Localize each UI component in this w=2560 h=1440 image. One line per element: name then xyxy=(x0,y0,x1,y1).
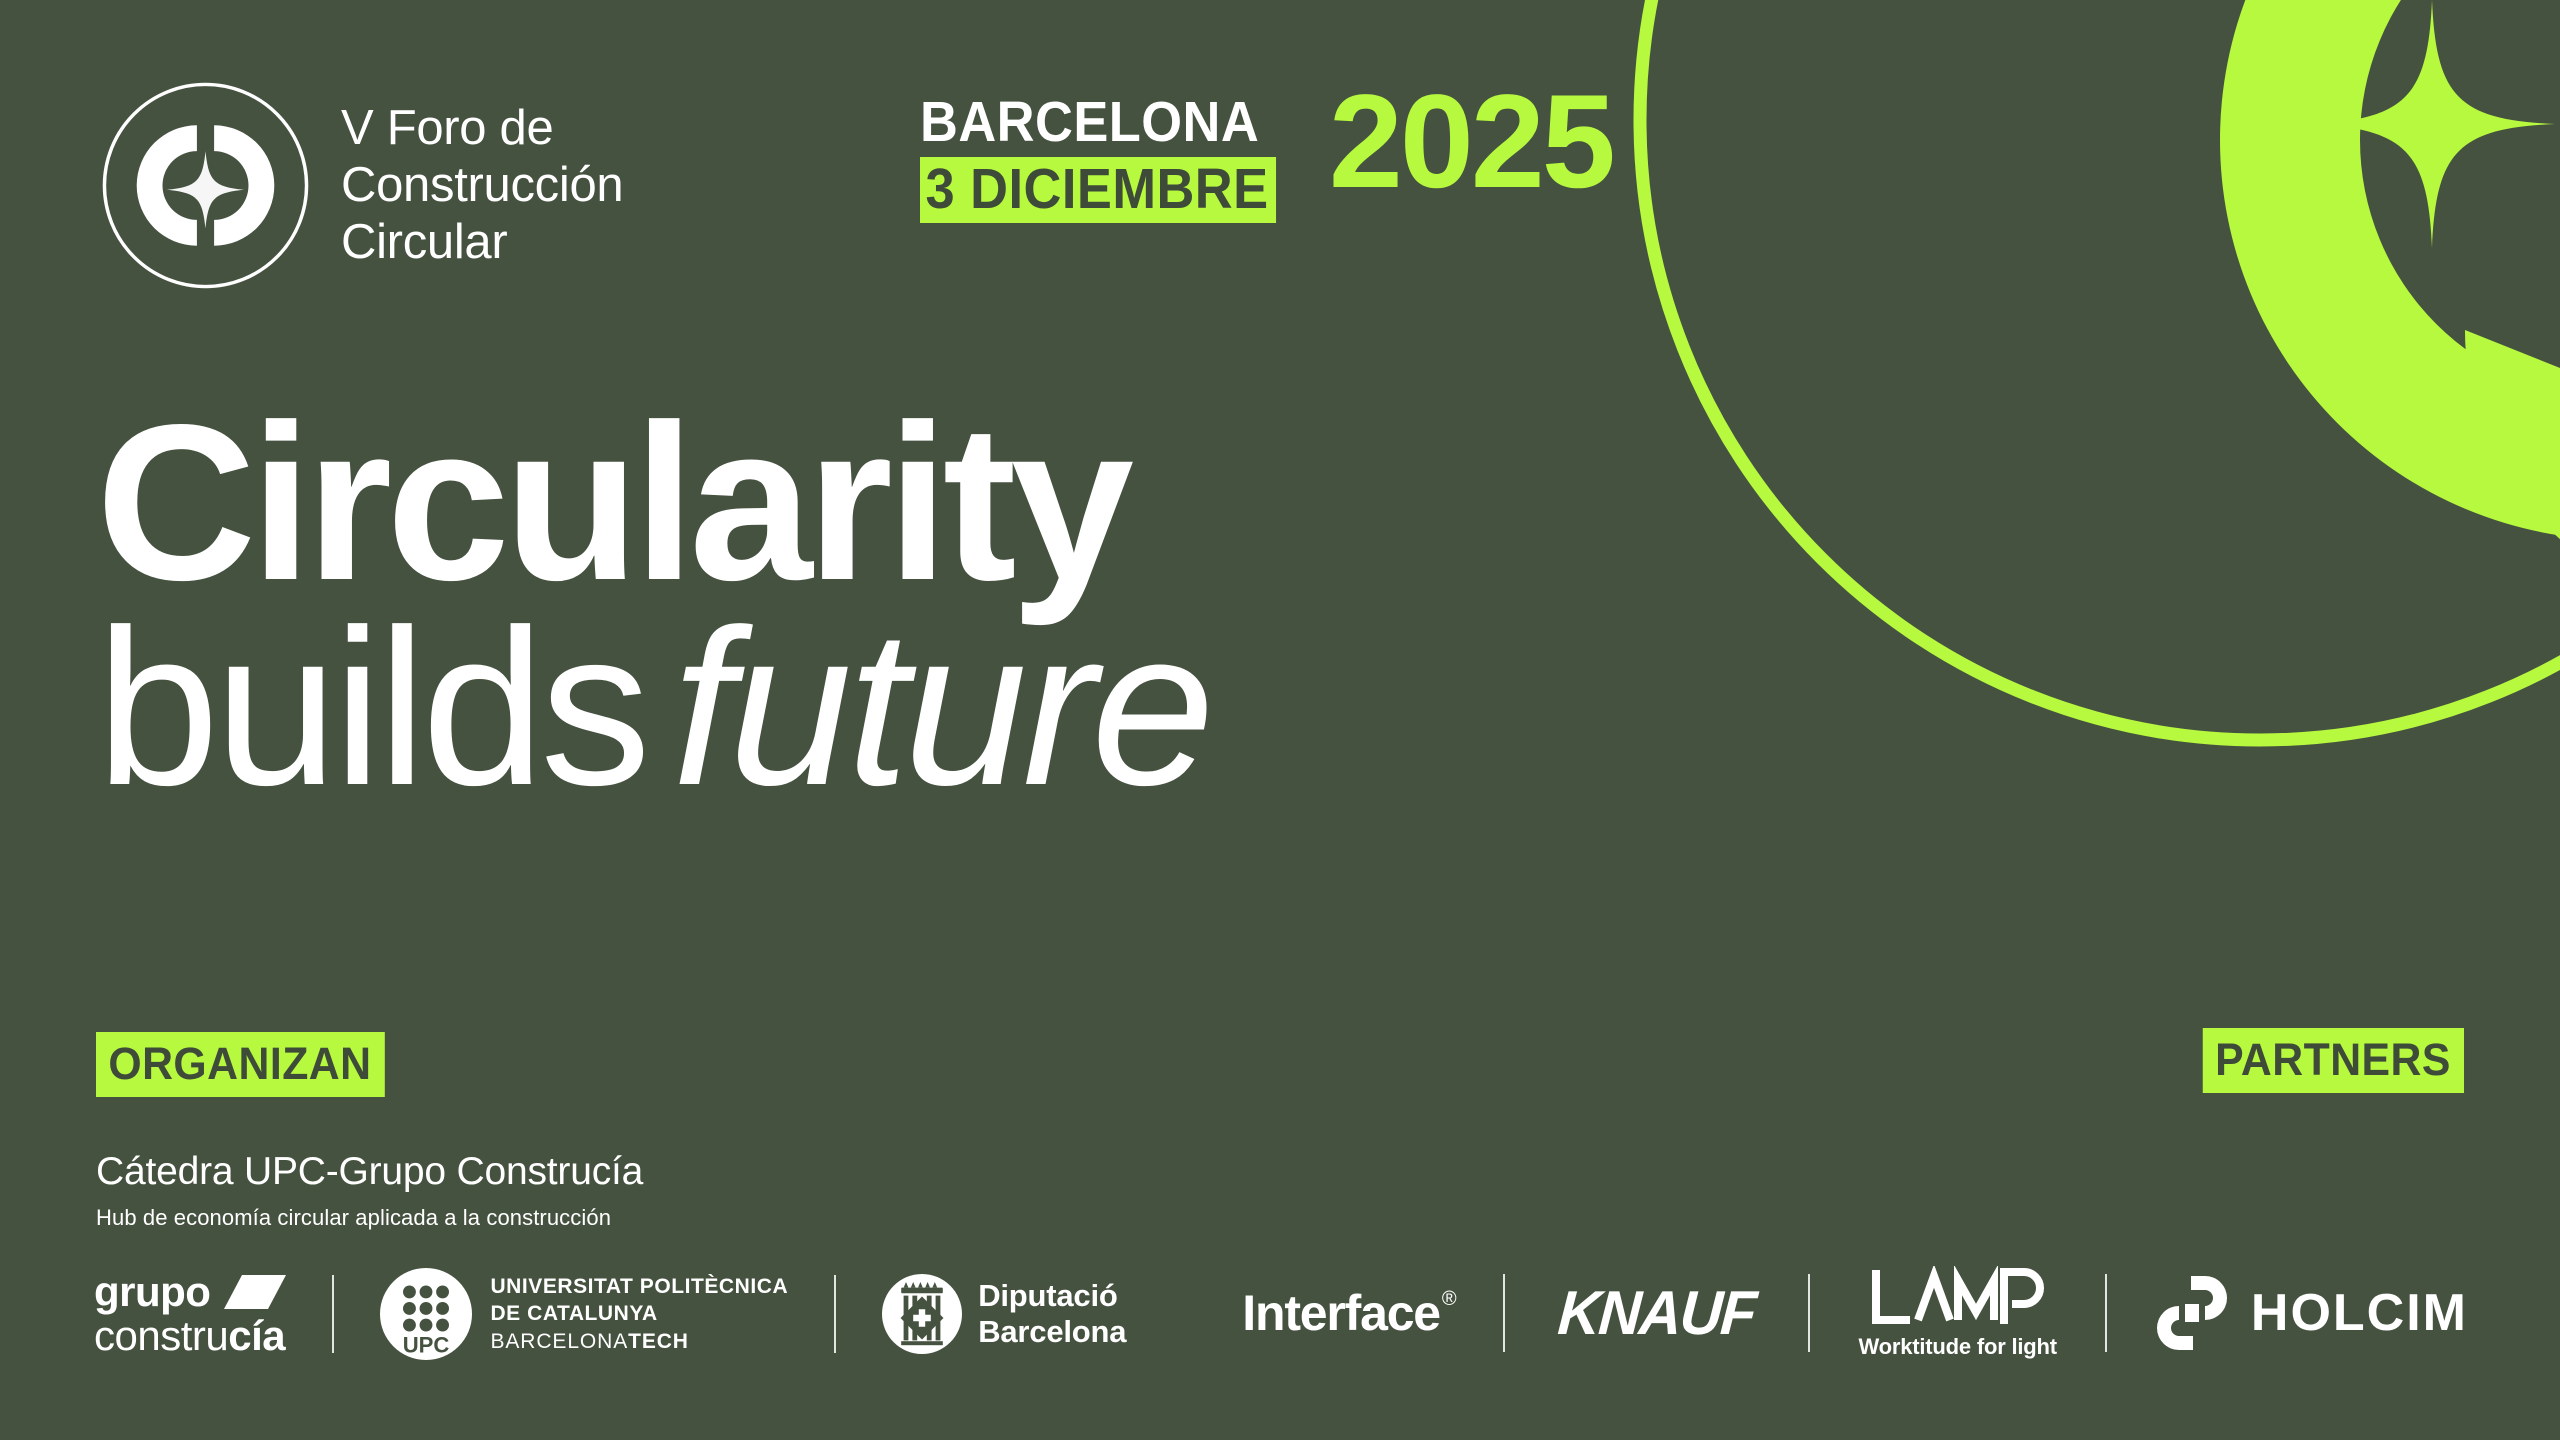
parallelogram-slash-icon xyxy=(224,1275,286,1309)
partners-badge: PARTNERS xyxy=(2203,1028,2464,1093)
construcia-line-2: construcía xyxy=(94,1315,286,1357)
logo-holcim: HOLCIM xyxy=(2155,1274,2468,1352)
lamp-wordmark-icon xyxy=(1868,1266,2048,1328)
holcim-wordmark: HOLCIM xyxy=(2251,1283,2468,1343)
event-year: 2025 xyxy=(1329,89,1613,195)
upc-dot-grid-icon: UPC xyxy=(380,1268,472,1360)
logo-interface: Interface® xyxy=(1242,1284,1455,1342)
organizer-name: Cátedra UPC-Grupo Construcía xyxy=(96,1150,643,1194)
event-city: BARCELONA xyxy=(920,95,1276,151)
construcia-line-1: grupo xyxy=(94,1271,286,1313)
circular-construction-monogram-icon xyxy=(98,78,313,293)
event-date-block: BARCELONA 3 DICIEMBRE 2025 xyxy=(920,95,1613,223)
logo-lamp: Worktitude for light xyxy=(1858,1266,2056,1360)
diputacio-label: Diputació Barcelona xyxy=(978,1278,1126,1351)
upc-line-1: UNIVERSITAT POLITÈCNICA xyxy=(490,1273,788,1300)
logo-knauf: KNAUF xyxy=(1553,1278,1760,1349)
poster-header: V Foro de Construcción Circular BARCELON… xyxy=(0,0,2560,300)
registered-mark-icon: ® xyxy=(1442,1288,1456,1311)
upc-line-2: DE CATALUNYA xyxy=(490,1300,788,1327)
poster-footer: ORGANIZAN PARTNERS Cátedra UPC-Grupo Con… xyxy=(0,1010,2560,1440)
logo-separator xyxy=(2105,1274,2107,1352)
logo-separator xyxy=(834,1275,836,1353)
upc-mark-label: UPC xyxy=(403,1333,450,1358)
date-left-column: BARCELONA 3 DICIEMBRE xyxy=(920,95,1307,223)
upc-line-3: BARCELONATECH xyxy=(490,1328,788,1355)
logo-diputacio-barcelona: Diputació Barcelona xyxy=(882,1274,1126,1354)
brand-title: V Foro de Construcción Circular xyxy=(341,100,623,272)
headline-word-regular: builds xyxy=(96,584,646,832)
interface-wordmark: Interface xyxy=(1242,1284,1440,1342)
logo-separator xyxy=(1808,1274,1810,1352)
organizer-subtitle: Hub de economía circular aplicada a la c… xyxy=(96,1205,611,1231)
event-date-badge: 3 DICIEMBRE xyxy=(920,157,1276,223)
headline-word-italic: future xyxy=(672,584,1210,832)
lamp-tagline: Worktitude for light xyxy=(1858,1334,2056,1360)
knauf-wordmark: KNAUF xyxy=(1556,1278,1758,1349)
brand-lockup: V Foro de Construcción Circular xyxy=(98,78,623,293)
logo-separator xyxy=(332,1275,334,1353)
barcelona-coat-of-arms-icon xyxy=(882,1274,962,1354)
page-title: Circularity buildsfuture xyxy=(96,398,1210,814)
partner-logo-row: Interface® KNAUF Worktitude for light xyxy=(1242,1266,2468,1360)
logo-upc: UPC UNIVERSITAT POLITÈCNICA DE CATALUNYA… xyxy=(380,1268,788,1360)
headline-line-1: Circularity xyxy=(96,398,1210,609)
logo-separator xyxy=(1503,1274,1505,1352)
headline-line-2: buildsfuture xyxy=(96,603,1210,814)
thick-arc-shape-secondary xyxy=(2465,330,2560,606)
organizer-logo-row: grupo construcía UPC xyxy=(94,1268,1126,1360)
organizan-badge: ORGANIZAN xyxy=(96,1032,385,1097)
holcim-links-icon xyxy=(2155,1274,2229,1352)
logo-grupo-construcia: grupo construcía xyxy=(94,1271,286,1357)
